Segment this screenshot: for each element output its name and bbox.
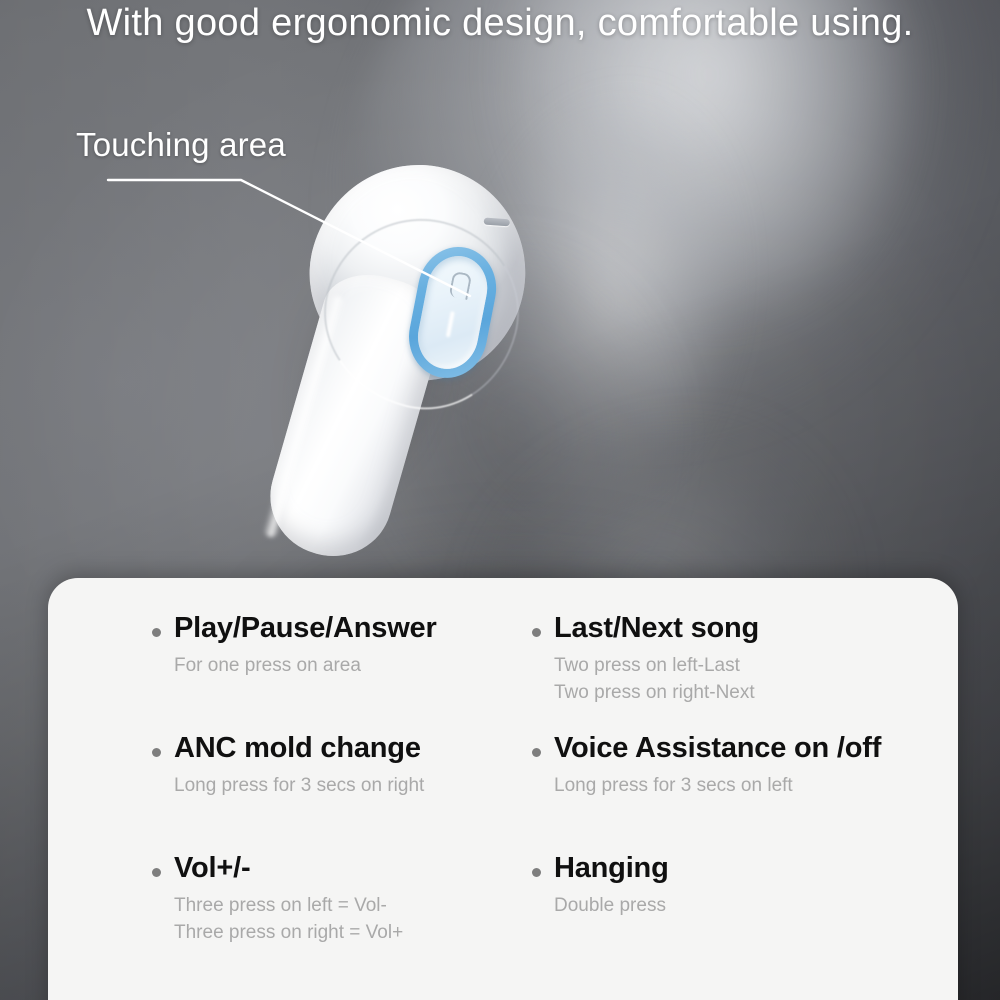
feature-subtitle-line: Three press on right = Vol+ [174,920,532,947]
product-infographic: Touching area With good ergonomic design… [0,0,1000,1000]
feature-subtitle-line: Three press on left = Vol- [174,893,532,920]
feature-subtitle: Three press on left = Vol- Three press o… [174,893,532,947]
feature-item-last-next-song: Last/Next song Two press on left-Last Tw… [532,612,934,732]
feature-item-anc-mold-change: ANC mold change Long press for 3 secs on… [152,732,532,852]
feature-subtitle: Two press on left-Last Two press on righ… [554,653,934,707]
feature-item-hanging: Hanging Double press [532,852,934,947]
page-headline: With good ergonomic design, comfortable … [0,2,1000,45]
callout-label-touching-area: Touching area [76,126,286,164]
feature-item-play-pause-answer: Play/Pause/Answer For one press on area [152,612,532,732]
feature-title: Voice Assistance on /off [554,732,934,764]
feature-subtitle-line: Two press on left-Last [554,653,934,680]
feature-grid: Play/Pause/Answer For one press on area … [48,612,958,947]
bullet-icon [532,868,541,877]
bullet-icon [152,748,161,757]
feature-subtitle: For one press on area [174,653,532,680]
feature-item-volume: Vol+/- Three press on left = Vol- Three … [152,852,532,947]
feature-item-voice-assistance: Voice Assistance on /off Long press for … [532,732,934,852]
feature-title: Last/Next song [554,612,934,644]
bullet-icon [152,868,161,877]
feature-title: Play/Pause/Answer [174,612,532,644]
feature-subtitle: Long press for 3 secs on right [174,773,532,800]
feature-title: ANC mold change [174,732,532,764]
bullet-icon [532,748,541,757]
feature-subtitle: Double press [554,893,934,920]
feature-card: Play/Pause/Answer For one press on area … [48,578,958,1000]
feature-subtitle: Long press for 3 secs on left [554,773,934,800]
feature-subtitle-line: Two press on right-Next [554,680,934,707]
feature-title: Hanging [554,852,934,884]
bullet-icon [532,628,541,637]
feature-title: Vol+/- [174,852,532,884]
bullet-icon [152,628,161,637]
